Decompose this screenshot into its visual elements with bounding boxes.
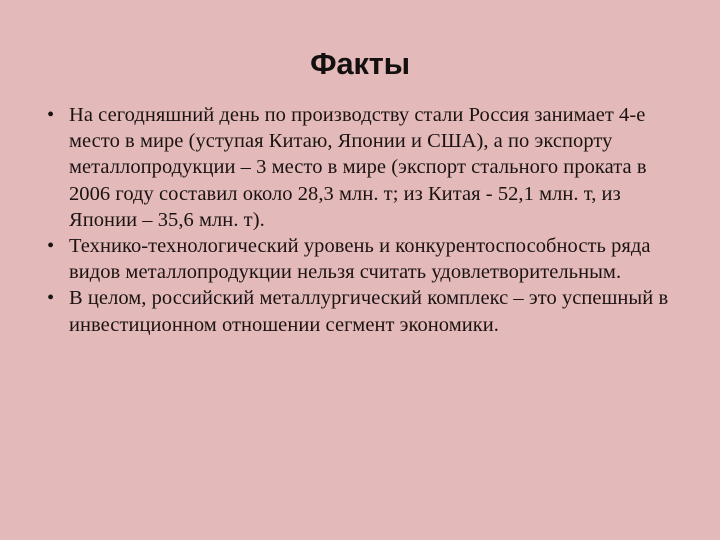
page-title: Факты	[0, 46, 720, 82]
bullet-point-icon: •	[47, 285, 61, 311]
list-item: • На сегодняшний день по производству ст…	[38, 102, 683, 233]
list-item-text: В целом, российский металлургический ком…	[69, 285, 683, 337]
bullet-point-icon: •	[47, 102, 61, 128]
list-item: • Технико-технологический уровень и конк…	[38, 233, 683, 285]
list-item-text: На сегодняшний день по производству стал…	[69, 102, 683, 233]
list-item-text: Технико-технологический уровень и конкур…	[69, 233, 683, 285]
bullet-point-icon: •	[47, 233, 61, 259]
list-item: • В целом, российский металлургический к…	[38, 285, 683, 337]
bullet-list: • На сегодняшний день по производству ст…	[38, 102, 683, 338]
presentation-slide: Факты • На сегодняшний день по производс…	[0, 0, 720, 540]
